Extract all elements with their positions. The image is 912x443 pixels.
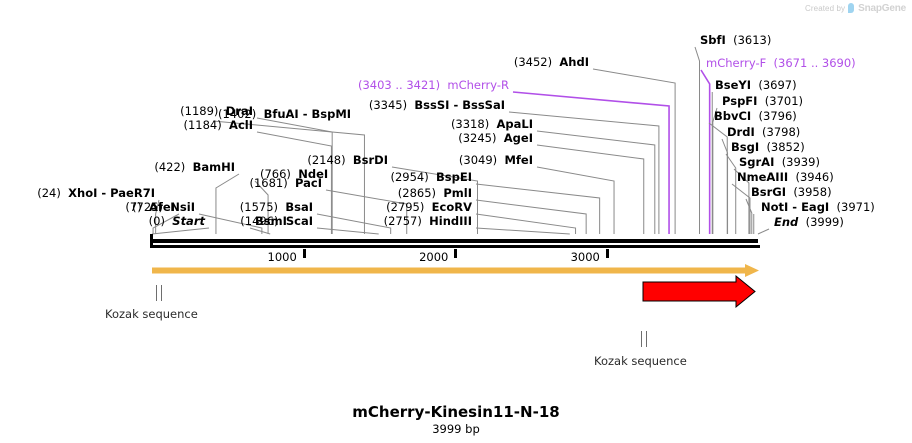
leader-line-bbvci <box>709 123 727 234</box>
marker-name-bsai: BsaI <box>285 200 313 214</box>
leader-line-start <box>152 228 209 234</box>
marker-position-hindiii: (2757) <box>384 214 422 228</box>
marker-position-ahdi: (3452) <box>514 55 552 69</box>
marker-name-hindiii: HindIII <box>429 214 472 228</box>
marker-name-bbvci: BbvCI <box>714 109 751 123</box>
ruler-tick-3000 <box>606 249 609 258</box>
marker-position-mcherry-r: (3403 .. 3421) <box>358 78 440 92</box>
marker-position-bsai: (1575) <box>240 200 278 214</box>
leader-line-ecorv <box>476 214 576 234</box>
marker-label-ahdi[interactable]: (3452) AhdI <box>514 57 589 69</box>
marker-name-bfuai-bspmi: BfuAI - BspMI <box>264 107 351 121</box>
marker-name-pspfi: PspFI <box>722 94 757 108</box>
mcherry-feature-label-box[interactable]: mCherry <box>643 282 755 302</box>
leader-line-drdi <box>722 139 728 234</box>
marker-position-agei: (3245) <box>458 131 496 145</box>
marker-name-nmeaiii: NmeAIII <box>737 170 788 184</box>
marker-position-bspei: (2954) <box>390 170 428 184</box>
leader-line-bamhi <box>216 174 239 234</box>
leader-line-bspei <box>476 184 600 234</box>
marker-label-nsii[interactable]: (725) NsiI <box>132 202 195 214</box>
marker-position-bamhi: (422) <box>154 160 185 174</box>
marker-position-bseyi: (3697) <box>758 78 796 92</box>
marker-label-nmeaiii[interactable]: NmeAIII (3946) <box>737 172 834 184</box>
marker-name-pmli: PmlI <box>443 186 472 200</box>
marker-position-start: (0) <box>149 214 165 228</box>
marker-name-xhoi-paer7i: XhoI - PaeR7I <box>68 186 155 200</box>
marker-label-bbvci[interactable]: BbvCI (3796) <box>714 111 797 123</box>
leader-line-bsmi <box>250 228 270 234</box>
marker-name-bspei: BspEI <box>436 170 472 184</box>
construct-length: 3999 bp <box>0 422 912 436</box>
marker-position-nsii: (725) <box>132 200 163 214</box>
sequence-backbone-left-cap <box>150 234 153 246</box>
marker-name-mcherry-r: mCherry-R <box>447 78 509 92</box>
marker-label-pmli[interactable]: (2865) PmlI <box>398 188 472 200</box>
ruler-tick-1000 <box>303 249 306 258</box>
marker-label-hindiii[interactable]: (2757) HindIII <box>384 216 472 228</box>
marker-name-paci: PacI <box>295 176 322 190</box>
marker-label-ecorv[interactable]: (2795) EcoRV <box>386 202 472 214</box>
leader-line-nmeaiii <box>732 184 750 234</box>
sequence-backbone-top <box>152 239 758 243</box>
marker-label-bspei[interactable]: (2954) BspEI <box>390 172 472 184</box>
marker-position-scai: (1496) <box>240 214 278 228</box>
marker-position-sgrai: (3939) <box>782 155 820 169</box>
marker-name-apali: ApaLI <box>497 117 534 131</box>
marker-position-bsssi-bsssai: (3345) <box>369 98 407 112</box>
marker-position-ecorv: (2795) <box>386 200 424 214</box>
marker-label-sbfi[interactable]: SbfI (3613) <box>700 35 771 47</box>
leader-line-scai <box>317 228 379 234</box>
marker-label-sgrai[interactable]: SgrAI (3939) <box>739 157 820 169</box>
marker-name-bsrgi: BsrGI <box>751 185 786 199</box>
marker-label-bamhi[interactable]: (422) BamHI <box>154 162 235 174</box>
marker-name-sgrai: SgrAI <box>739 155 774 169</box>
marker-label-mfei[interactable]: (3049) MfeI <box>459 155 533 167</box>
marker-name-drdi: DrdI <box>727 125 755 139</box>
leader-line-sbfi <box>695 47 700 234</box>
marker-position-end: (3999) <box>806 215 844 229</box>
marker-position-mfei: (3049) <box>459 153 497 167</box>
marker-name-bsrdi: BsrDI <box>353 153 388 167</box>
leader-line-apali <box>537 131 655 234</box>
marker-label-bsai[interactable]: (1575) BsaI <box>240 202 313 214</box>
marker-position-noti-eagi: (3971) <box>837 200 875 214</box>
marker-label-bseyi[interactable]: BseYI (3697) <box>715 80 797 92</box>
leader-line-ahdi <box>593 69 675 234</box>
sequence-map-canvas: Created by SnapGene (0) Start(7) AfeI(24… <box>0 0 912 443</box>
marker-label-apali[interactable]: (3318) ApaLI <box>451 119 533 131</box>
leader-line-bsrgi <box>746 199 752 234</box>
sequence-backbone-bottom <box>150 245 760 248</box>
mcherry-feature-label: mCherry <box>643 282 739 302</box>
leader-line-mcherry-f <box>701 70 710 234</box>
marker-position-nmeaiii: (3946) <box>795 170 833 184</box>
leader-line-pmli <box>476 200 586 234</box>
leader-line-mfei <box>537 167 614 234</box>
ruler-label-3000: 3000 <box>571 250 600 264</box>
marker-name-start: Start <box>172 214 205 228</box>
orf-arrow <box>152 264 759 277</box>
marker-label-noti-eagi[interactable]: NotI - EagI (3971) <box>761 202 875 214</box>
marker-label-bsrgi[interactable]: BsrGI (3958) <box>751 187 832 199</box>
marker-name-ahdi: AhdI <box>559 55 589 69</box>
marker-position-sbfi: (3613) <box>733 33 771 47</box>
snapgene-watermark: Created by SnapGene <box>805 3 906 14</box>
marker-label-bsrdi[interactable]: (2148) BsrDI <box>307 155 388 167</box>
marker-name-mcherry-f: mCherry-F <box>706 56 766 70</box>
marker-label-xhoi-paer7i[interactable]: (24) XhoI - PaeR7I <box>37 188 155 200</box>
watermark-prefix: Created by <box>805 4 845 13</box>
kozak-sequence-left-label: Kozak sequence <box>105 307 198 321</box>
marker-name-bseyi: BseYI <box>715 78 751 92</box>
marker-position-bsgi: (3852) <box>766 140 804 154</box>
marker-name-ecorv: EcoRV <box>432 200 472 214</box>
marker-position-acli: (1184) <box>183 118 221 132</box>
marker-position-pspfi: (3701) <box>765 94 803 108</box>
ruler-tick-2000 <box>454 249 457 258</box>
marker-position-xhoi-paer7i: (24) <box>37 186 61 200</box>
marker-name-bsgi: BsgI <box>731 140 759 154</box>
marker-name-sbfi: SbfI <box>700 33 726 47</box>
leader-line-mcherry-r <box>513 92 669 234</box>
marker-name-noti-eagi: NotI - EagI <box>761 200 829 214</box>
marker-name-agei: AgeI <box>504 131 533 145</box>
marker-position-mcherry-f: (3671 .. 3690) <box>774 56 856 70</box>
marker-label-bsssi-bsssai[interactable]: (3345) BssSI - BssSaI <box>369 100 505 112</box>
marker-label-mcherry-r[interactable]: (3403 .. 3421) mCherry-R <box>358 80 509 92</box>
marker-position-paci: (1681) <box>249 176 287 190</box>
ruler-label-1000: 1000 <box>268 250 297 264</box>
marker-position-bsrdi: (2148) <box>307 153 345 167</box>
marker-label-drdi[interactable]: DrdI (3798) <box>727 127 800 139</box>
leader-line-pspfi <box>713 108 717 234</box>
marker-position-pmli: (2865) <box>398 186 436 200</box>
kozak-marker-right <box>641 331 647 347</box>
marker-position-bsrgi: (3958) <box>793 185 831 199</box>
construct-title: mCherry-Kinesin11-N-18 <box>0 403 912 421</box>
marker-label-scai[interactable]: (1496) ScaI <box>240 216 313 228</box>
watermark-brand: SnapGene <box>858 3 906 14</box>
marker-label-end[interactable]: End (3999) <box>774 217 844 229</box>
leader-line-bsgi <box>726 154 736 234</box>
marker-label-agei[interactable]: (3245) AgeI <box>458 133 533 145</box>
kozak-marker-left <box>156 285 162 301</box>
leader-line-hindiii <box>476 228 570 234</box>
marker-label-pspfi[interactable]: PspFI (3701) <box>722 96 803 108</box>
leader-line-end <box>758 229 769 234</box>
marker-position-drai: (1189) <box>180 104 218 118</box>
marker-name-nsii: NsiI <box>170 200 195 214</box>
marker-label-bfuai-bspmi[interactable]: (1402) BfuAI - BspMI <box>218 109 351 121</box>
marker-label-mcherry-f[interactable]: mCherry-F (3671 .. 3690) <box>706 58 856 70</box>
marker-name-end: End <box>774 215 798 229</box>
leader-line-bsai <box>317 214 391 234</box>
marker-label-paci[interactable]: (1681) PacI <box>249 178 322 190</box>
marker-label-start[interactable]: (0) Start <box>149 216 205 228</box>
marker-label-bsgi[interactable]: BsgI (3852) <box>731 142 805 154</box>
marker-label-acli[interactable]: (1184) AclI <box>183 120 253 132</box>
snapgene-logo-icon <box>848 3 855 14</box>
marker-name-scai: ScaI <box>286 214 313 228</box>
kozak-sequence-right-label: Kozak sequence <box>594 354 687 368</box>
marker-position-bfuai-bspmi: (1402) <box>218 107 256 121</box>
marker-name-bsssi-bsssai: BssSI - BssSaI <box>414 98 505 112</box>
leader-line-agei <box>537 145 644 234</box>
marker-position-drdi: (3798) <box>762 125 800 139</box>
marker-position-apali: (3318) <box>451 117 489 131</box>
marker-name-mfei: MfeI <box>504 153 533 167</box>
marker-position-bbvci: (3796) <box>759 109 797 123</box>
marker-name-bamhi: BamHI <box>193 160 235 174</box>
ruler-label-2000: 2000 <box>419 250 448 264</box>
